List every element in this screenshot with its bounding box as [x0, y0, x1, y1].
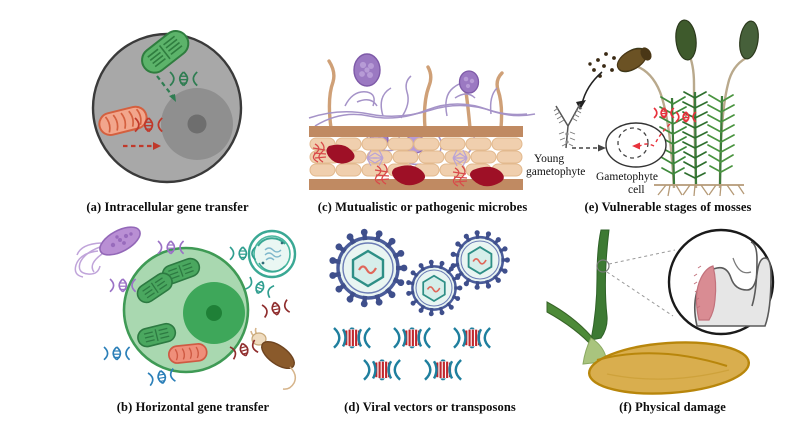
caption-panel-f: (f) Physical damage	[560, 400, 785, 415]
virus-particle	[450, 230, 510, 290]
caption-panel-e: (e) Vulnerable stages of mosses	[548, 200, 788, 215]
panel-d-artwork	[322, 232, 532, 394]
panel-a-intracellular-gene-transfer	[75, 28, 260, 193]
caption-panel-d: (d) Viral vectors or transposons	[315, 400, 545, 415]
panel-a-artwork	[75, 28, 260, 193]
tissue-cuticle-layer	[309, 126, 523, 137]
rhizoid	[654, 185, 744, 196]
dna-helix-teal	[246, 277, 274, 298]
label-young-gametophyte-line1: Young	[534, 153, 564, 165]
dna-helix	[425, 360, 461, 380]
panel-d-viral-vectors-transposons	[322, 232, 532, 394]
arrow-to-gametophyte-cell	[572, 145, 606, 152]
spore-releasing-capsule	[614, 44, 654, 76]
moss-plants	[614, 19, 761, 196]
panel-c-artwork	[305, 40, 540, 190]
panel-e-vulnerable-stages-mosses: Young gametophyte Gametophyte cell	[528, 20, 793, 195]
panel-c-mutualistic-pathogenic-microbes	[305, 40, 540, 190]
dna-helix	[364, 360, 400, 380]
label-young-gametophyte-line2: gametophyte	[526, 166, 585, 178]
young-gametophyte-sketch	[554, 104, 582, 148]
dna-helix-darkred	[262, 300, 290, 318]
caption-panel-a: (a) Intracellular gene transfer	[75, 200, 260, 215]
panel-f-physical-damage	[545, 228, 795, 396]
label-gametophyte-cell-line1: Gametophyte	[596, 171, 658, 183]
magnifier-inset	[669, 230, 773, 334]
fungal-spore	[354, 54, 380, 86]
dna-helix	[334, 328, 370, 348]
shoot-green	[547, 230, 609, 364]
panel-f-artwork	[545, 228, 795, 396]
seed	[587, 337, 750, 398]
fungal-spore	[460, 71, 479, 93]
panel-b-horizontal-gene-transfer	[68, 225, 318, 395]
caption-panel-b: (b) Horizontal gene transfer	[68, 400, 318, 415]
plant-cell	[124, 248, 248, 372]
nucleolus	[206, 305, 222, 321]
caption-panel-c: (c) Mutualistic or pathogenic microbes	[295, 200, 550, 215]
bacterium-brown	[251, 328, 299, 389]
nucleolus	[188, 115, 207, 134]
virus-teal	[249, 231, 295, 277]
bacterium-purple	[75, 221, 144, 277]
spore	[588, 52, 616, 78]
flagella	[75, 243, 102, 277]
leader-line	[597, 250, 675, 316]
panel-e-artwork: Young gametophyte Gametophyte cell	[528, 20, 793, 195]
dna-helix	[394, 328, 430, 348]
panel-b-artwork	[68, 225, 318, 395]
mitochondrion	[168, 343, 208, 364]
dna-helix-blue	[104, 347, 130, 360]
dna-helix-blue	[148, 369, 175, 386]
virus-particle	[329, 228, 408, 307]
label-gametophyte-cell-line2: cell	[628, 184, 645, 196]
dna-helix	[454, 328, 490, 348]
figure-root: (a) Intracellular gene transfer	[0, 0, 800, 436]
